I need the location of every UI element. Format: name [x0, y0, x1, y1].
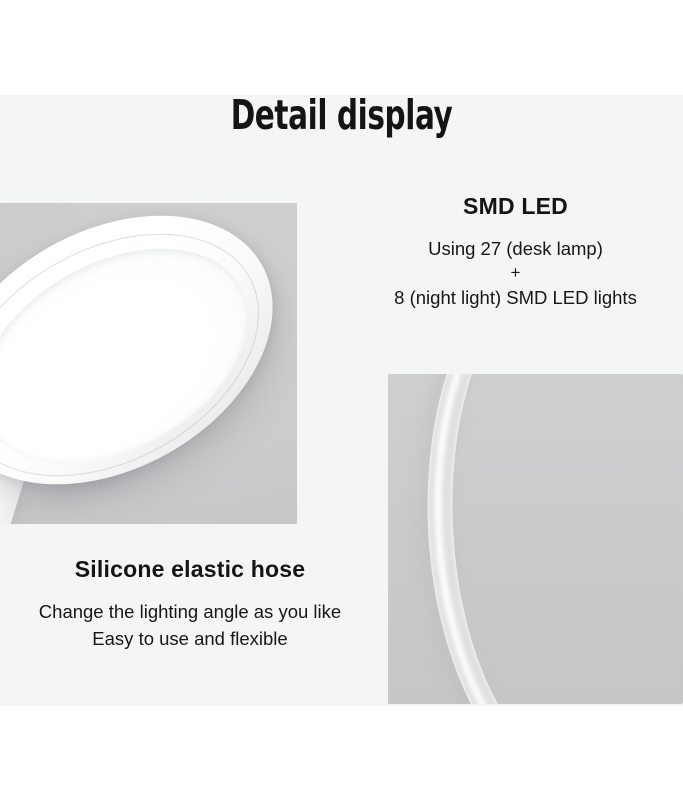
photo-silicone-hose [388, 374, 683, 704]
feature-title-silicone-hose: Silicone elastic hose [0, 555, 380, 583]
feature-block-silicone-hose: Silicone elastic hose Change the lightin… [0, 555, 380, 652]
feature-line: Change the lighting angle as you like [0, 598, 380, 625]
silicone-hose-image [388, 374, 683, 704]
photo-lamp-head [0, 203, 297, 524]
feature-line: Using 27 (desk lamp) [348, 235, 683, 262]
page-title: Detail display [68, 93, 614, 137]
feature-block-smd-led: SMD LED Using 27 (desk lamp) + 8 (night … [348, 192, 683, 311]
hose-highlight [421, 374, 683, 704]
lamp-head-image [0, 203, 297, 524]
product-detail-page: Detail display SMD LED Using 27 (desk la… [0, 0, 683, 800]
feature-line: Easy to use and flexible [0, 625, 380, 652]
feature-line: 8 (night light) SMD LED lights [348, 284, 683, 311]
feature-line: + [348, 262, 683, 284]
feature-title-smd-led: SMD LED [348, 192, 683, 220]
